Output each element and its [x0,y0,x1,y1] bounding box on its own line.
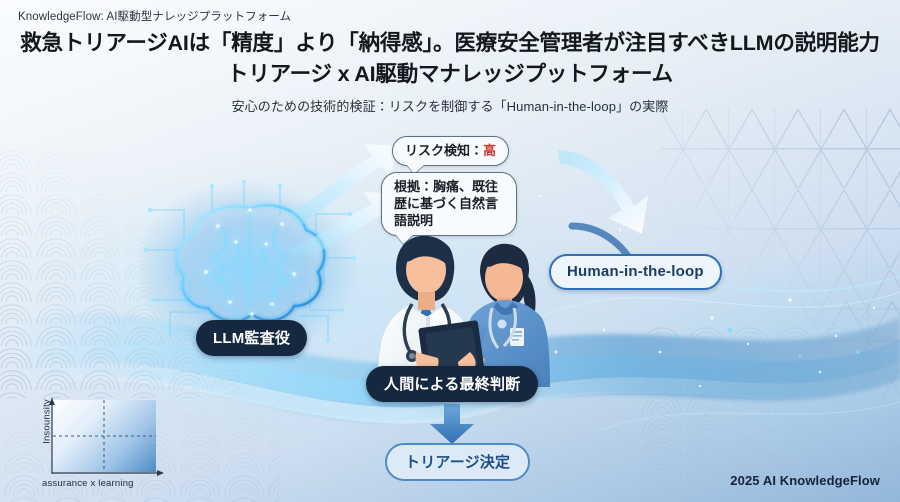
doctor-nurse-illustration [352,212,552,387]
page-subtitle: 安心のための技術的検証：リスクを制御する「Human-in-the-loop」の… [0,96,900,115]
human-decision-label: 人間による最終判断 [366,366,538,402]
triage-decision-label: トリアージ決定 [385,443,530,481]
footer-branding: 2025 AI KnowledgeFlow [730,473,880,488]
quadrant-chart: Insounsity assurance x learning [30,398,180,493]
headline-line-1: 救急トリアージAIは「精度」より「納得感」。医療安全管理者が注目すべきLLMの説… [20,31,880,55]
brand-label: KnowledgeFlow: AI駆動型ナレッジプラットフォーム [18,8,291,24]
page-title: 救急トリアージAIは「精度」より「納得感」。医療安全管理者が注目すべきLLMの説… [0,28,900,89]
poster-canvas: KnowledgeFlow: AI駆動型ナレッジプラットフォーム 救急トリアージ… [0,0,900,502]
chart-x-axis-label: assurance x learning [42,478,182,489]
doctor-illustration [378,236,486,387]
risk-label: リスク検知： [405,143,483,158]
risk-value: 高 [483,143,496,158]
reason-bubble: 根拠：胸痛、既往歴に基づく自然言語説明 [381,172,517,236]
chart-y-axis-label: Insounsity [42,391,53,453]
human-in-the-loop-label: Human-in-the-loop [549,254,722,290]
risk-detection-bubble: リスク検知：高 [392,136,509,166]
headline-line-2: トリアージ x AI駆動マナレッジプットフォーム [0,59,900,90]
llm-auditor-label: LLM監査役 [196,320,307,356]
